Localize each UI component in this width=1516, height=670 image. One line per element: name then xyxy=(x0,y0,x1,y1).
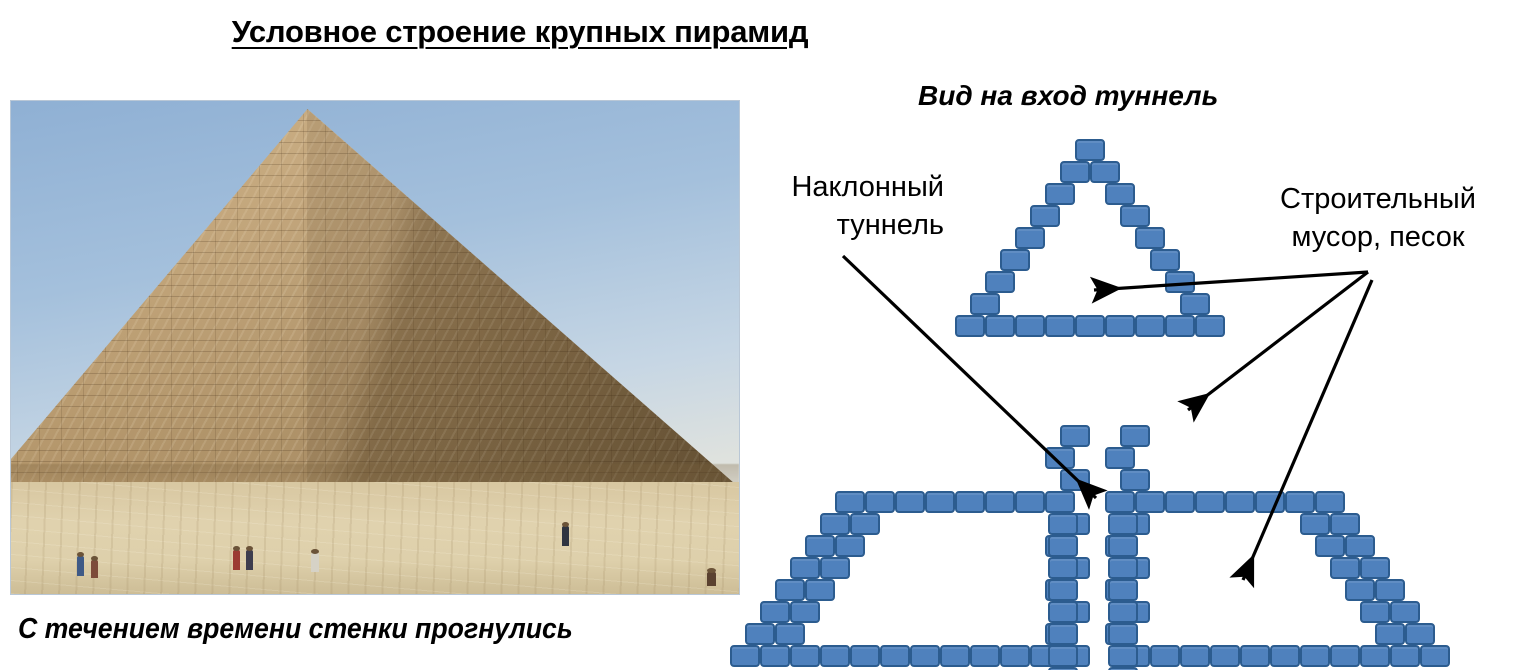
brick xyxy=(1120,425,1150,447)
brick xyxy=(955,491,985,513)
brick xyxy=(1375,623,1405,645)
brick xyxy=(1105,183,1135,205)
brick xyxy=(1060,425,1090,447)
brick xyxy=(1165,315,1195,337)
slide-root: Условное строение крупных пирамид С тече… xyxy=(0,0,1516,670)
brick xyxy=(745,623,775,645)
brick xyxy=(910,645,940,667)
brick xyxy=(1045,315,1075,337)
brick xyxy=(1060,161,1090,183)
brick xyxy=(1015,315,1045,337)
brick xyxy=(1108,645,1138,667)
brick xyxy=(760,645,790,667)
brick xyxy=(1150,645,1180,667)
brick xyxy=(1180,293,1210,315)
brick xyxy=(895,491,925,513)
brick xyxy=(790,601,820,623)
brick xyxy=(1270,645,1300,667)
brick xyxy=(1345,535,1375,557)
brick xyxy=(1000,249,1030,271)
brick xyxy=(1105,315,1135,337)
brick xyxy=(880,645,910,667)
brick xyxy=(790,557,820,579)
brick xyxy=(970,293,1000,315)
brick xyxy=(850,645,880,667)
brick xyxy=(1048,535,1078,557)
brick xyxy=(1315,535,1345,557)
brick xyxy=(775,623,805,645)
brick xyxy=(1108,557,1138,579)
brick xyxy=(1330,513,1360,535)
brick xyxy=(1060,469,1090,491)
brick xyxy=(850,513,880,535)
brick xyxy=(1045,447,1075,469)
brick xyxy=(1420,645,1450,667)
brick xyxy=(1108,535,1138,557)
brick xyxy=(1285,491,1315,513)
brick xyxy=(985,271,1015,293)
brick xyxy=(1135,315,1165,337)
brick xyxy=(1075,315,1105,337)
brick xyxy=(805,579,835,601)
brick xyxy=(940,645,970,667)
brick xyxy=(1048,645,1078,667)
brick xyxy=(1120,469,1150,491)
brick xyxy=(1048,579,1078,601)
brick xyxy=(820,513,850,535)
brick xyxy=(1180,645,1210,667)
brick xyxy=(985,491,1015,513)
brick xyxy=(1015,491,1045,513)
brick xyxy=(1120,205,1150,227)
brick xyxy=(1240,645,1270,667)
brick xyxy=(1390,645,1420,667)
brick xyxy=(760,601,790,623)
brick xyxy=(1108,513,1138,535)
brick xyxy=(1150,249,1180,271)
brick xyxy=(805,535,835,557)
brick xyxy=(1048,513,1078,535)
brick xyxy=(1090,161,1120,183)
brick xyxy=(1360,645,1390,667)
brick xyxy=(1165,271,1195,293)
brick xyxy=(1405,623,1435,645)
brick xyxy=(1315,491,1345,513)
brick xyxy=(1165,491,1195,513)
brick xyxy=(1345,579,1375,601)
brick xyxy=(1225,491,1255,513)
brick xyxy=(820,645,850,667)
brick-masonry-layer xyxy=(0,0,1516,670)
brick xyxy=(1135,491,1165,513)
brick xyxy=(1048,601,1078,623)
brick xyxy=(730,645,760,667)
brick xyxy=(835,535,865,557)
brick xyxy=(925,491,955,513)
brick xyxy=(790,645,820,667)
brick xyxy=(1330,557,1360,579)
brick xyxy=(1135,227,1165,249)
brick xyxy=(1108,579,1138,601)
brick xyxy=(1000,645,1030,667)
brick xyxy=(1255,491,1285,513)
brick xyxy=(1390,601,1420,623)
brick xyxy=(1360,601,1390,623)
brick xyxy=(1330,645,1360,667)
brick xyxy=(1195,491,1225,513)
brick xyxy=(1105,447,1135,469)
brick xyxy=(1300,513,1330,535)
brick xyxy=(1075,139,1105,161)
brick xyxy=(1105,491,1135,513)
brick xyxy=(1030,205,1060,227)
brick xyxy=(1300,645,1330,667)
brick xyxy=(970,645,1000,667)
brick xyxy=(865,491,895,513)
brick xyxy=(1375,579,1405,601)
brick xyxy=(1108,601,1138,623)
brick xyxy=(955,315,985,337)
brick xyxy=(1015,227,1045,249)
pyramid-cross-section-diagram: Вид на вход туннель Наклонный туннель Ст… xyxy=(0,0,1516,670)
brick xyxy=(1048,557,1078,579)
brick xyxy=(1195,315,1225,337)
brick xyxy=(1108,623,1138,645)
brick xyxy=(820,557,850,579)
brick xyxy=(1360,557,1390,579)
brick xyxy=(1045,183,1075,205)
brick xyxy=(1210,645,1240,667)
brick xyxy=(1045,491,1075,513)
brick xyxy=(775,579,805,601)
brick xyxy=(985,315,1015,337)
brick xyxy=(835,491,865,513)
brick xyxy=(1048,623,1078,645)
